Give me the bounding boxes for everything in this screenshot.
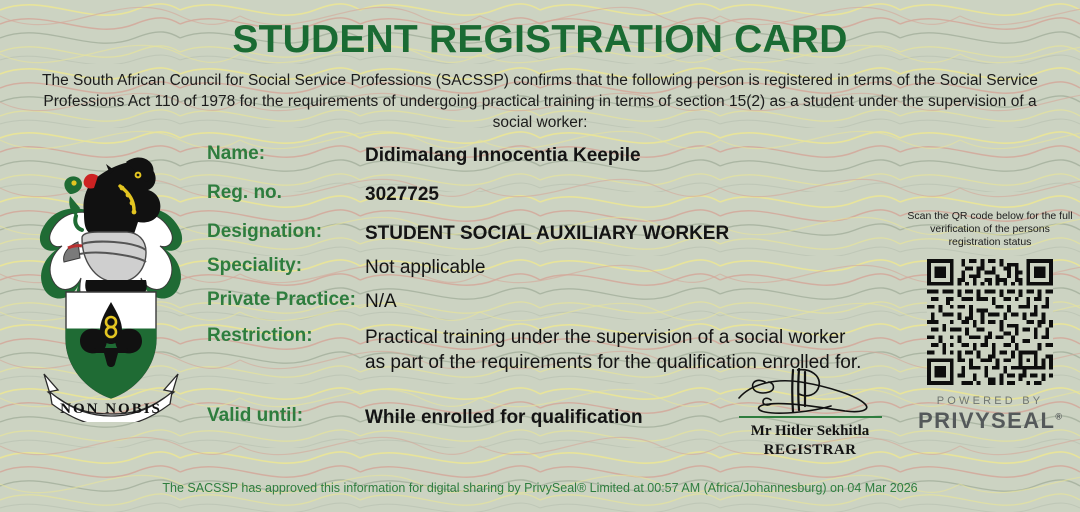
value-private-practice: N/A	[365, 289, 397, 314]
coat-of-arms-emblem: NON NOBIS	[22, 142, 200, 422]
intro-paragraph: The South African Council for Social Ser…	[28, 70, 1052, 133]
qr-verification-panel: Scan the QR code below for the full veri…	[905, 210, 1075, 434]
label-valid-until: Valid until:	[207, 405, 303, 427]
signature-mark	[735, 366, 885, 416]
field-row-restriction: Restriction: Practical training under th…	[207, 325, 907, 359]
privyseal-brand: PRIVYSEAL®	[905, 408, 1075, 434]
registrar-name: Mr Hitler Sekhitla	[730, 422, 890, 441]
field-row-private-practice: Private Practice: N/A	[207, 289, 907, 323]
label-name: Name:	[207, 143, 265, 165]
qr-caption: Scan the QR code below for the full veri…	[905, 210, 1075, 249]
label-private-practice: Private Practice:	[207, 289, 356, 311]
field-row-speciality: Speciality: Not applicable	[207, 255, 907, 289]
registrar-role: REGISTRAR	[730, 441, 890, 460]
label-restriction: Restriction:	[207, 325, 313, 347]
qr-code[interactable]	[927, 259, 1053, 385]
field-row-designation: Designation: STUDENT SOCIAL AUXILIARY WO…	[207, 221, 907, 255]
value-reg-no: 3027725	[365, 182, 439, 207]
footer-approval-text: The SACSSP has approved this information…	[0, 481, 1080, 495]
student-registration-card: STUDENT REGISTRATION CARD The South Afri…	[0, 0, 1080, 512]
signature-line	[739, 416, 882, 418]
field-row-reg-no: Reg. no. 3027725	[207, 182, 907, 216]
signature-block: Mr Hitler Sekhitla REGISTRAR	[730, 366, 890, 460]
value-name: Didimalang Innocentia Keepile	[365, 143, 641, 168]
field-row-name: Name: Didimalang Innocentia Keepile	[207, 143, 907, 177]
value-valid-until: While enrolled for qualification	[365, 405, 643, 430]
label-reg-no: Reg. no.	[207, 182, 282, 204]
registered-trademark-icon: ®	[1055, 412, 1062, 422]
value-speciality: Not applicable	[365, 255, 485, 280]
shield	[66, 292, 156, 398]
privyseal-wordmark: PRIVYSEAL	[918, 408, 1055, 433]
page-title: STUDENT REGISTRATION CARD	[0, 18, 1080, 62]
value-designation: STUDENT SOCIAL AUXILIARY WORKER	[365, 221, 729, 246]
label-designation: Designation:	[207, 221, 322, 243]
label-speciality: Speciality:	[207, 255, 302, 277]
motto-text: NON NOBIS	[60, 401, 162, 417]
powered-by-label: POWERED BY	[905, 395, 1075, 407]
